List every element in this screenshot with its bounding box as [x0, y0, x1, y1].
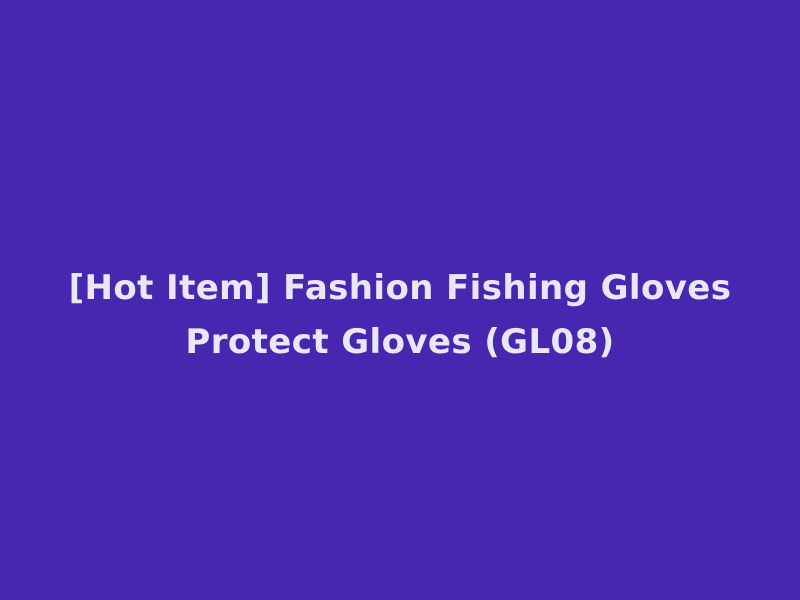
product-title-line-1: [Hot Item] Fashion Fishing Gloves [24, 261, 776, 315]
product-title-line-2: Protect Gloves (GL08) [24, 315, 776, 369]
image-placeholder-canvas: [Hot Item] Fashion Fishing Gloves Protec… [0, 0, 800, 600]
product-title: [Hot Item] Fashion Fishing Gloves Protec… [0, 261, 800, 369]
